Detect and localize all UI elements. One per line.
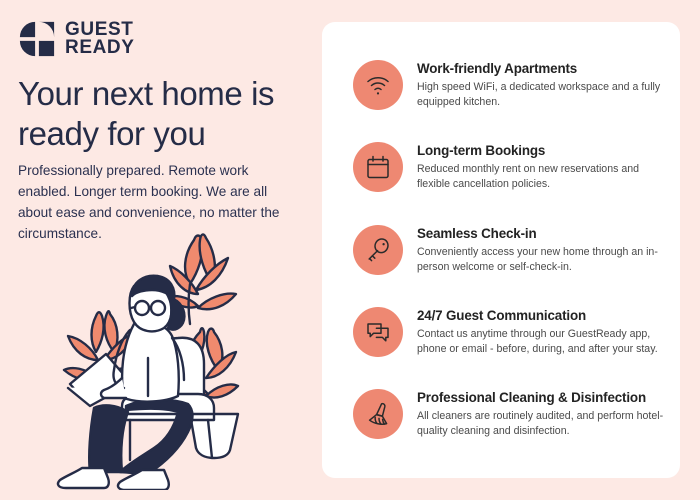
feature-title: 24/7 Guest Communication — [417, 308, 665, 324]
feature-description: Reduced monthly rent on new reservations… — [417, 162, 665, 192]
feature-item-work-friendly-apartments[interactable]: Work-friendly Apartments High speed WiFi… — [353, 60, 665, 110]
feature-text: Seamless Check-in Conveniently access yo… — [417, 225, 665, 275]
feature-description: All cleaners are routinely audited, and … — [417, 409, 665, 439]
feature-description: Contact us anytime through our GuestRead… — [417, 327, 665, 357]
key-icon — [353, 225, 403, 275]
page-title: Your next home is ready for you — [18, 74, 308, 155]
guestready-logo-mark — [18, 20, 56, 58]
feature-description: High speed WiFi, a dedicated workspace a… — [417, 80, 665, 110]
brand-line-2: READY — [65, 39, 135, 57]
feature-text: Long-term Bookings Reduced monthly rent … — [417, 142, 665, 192]
brand-logo[interactable]: GUEST READY — [18, 20, 135, 58]
feature-title: Professional Cleaning & Disinfection — [417, 390, 665, 406]
feature-description: Conveniently access your new home throug… — [417, 245, 665, 275]
feature-title: Work-friendly Apartments — [417, 61, 665, 77]
feature-text: Work-friendly Apartments High speed WiFi… — [417, 60, 665, 110]
wifi-icon — [353, 60, 403, 110]
feature-text: 24/7 Guest Communication Contact us anyt… — [417, 307, 665, 357]
feature-item-professional-cleaning[interactable]: Professional Cleaning & Disinfection All… — [353, 389, 665, 439]
chat-bubbles-icon — [353, 307, 403, 357]
broom-icon — [353, 389, 403, 439]
calendar-icon — [353, 142, 403, 192]
feature-item-guest-communication[interactable]: 24/7 Guest Communication Contact us anyt… — [353, 307, 665, 357]
feature-item-seamless-check-in[interactable]: Seamless Check-in Conveniently access yo… — [353, 225, 665, 275]
feature-title: Seamless Check-in — [417, 226, 665, 242]
feature-title: Long-term Bookings — [417, 143, 665, 159]
features-card: Work-friendly Apartments High speed WiFi… — [322, 22, 680, 478]
promo-page: GUEST READY Your next home is ready for … — [0, 0, 700, 500]
hero-illustration — [38, 228, 310, 490]
left-panel: GUEST READY Your next home is ready for … — [0, 0, 322, 500]
feature-item-long-term-bookings[interactable]: Long-term Bookings Reduced monthly rent … — [353, 142, 665, 192]
feature-text: Professional Cleaning & Disinfection All… — [417, 389, 665, 439]
brand-wordmark: GUEST READY — [65, 21, 135, 57]
